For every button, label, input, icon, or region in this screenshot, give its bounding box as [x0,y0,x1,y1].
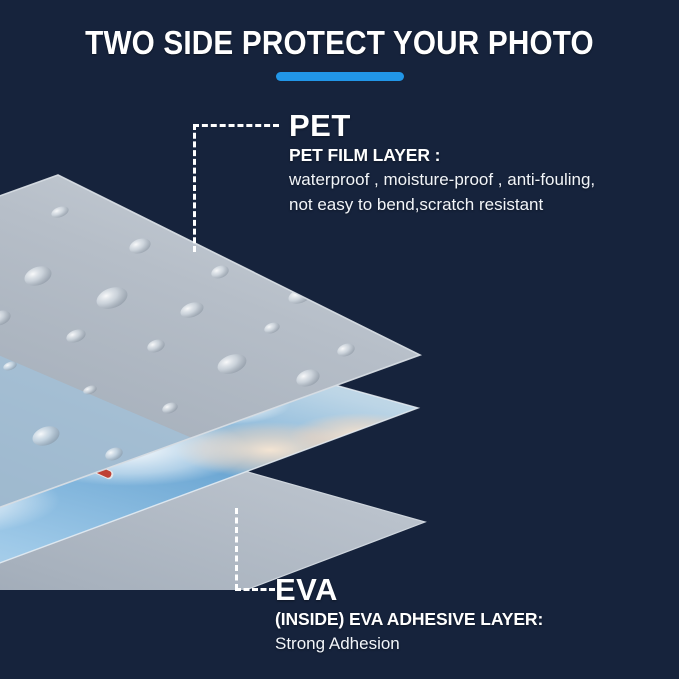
product-infographic: TWO SIDE PROTECT YOUR PHOTO [0,0,679,679]
callout-pet: PET PET FILM LAYER : waterproof , moistu… [289,110,619,217]
callout-eva: EVA (INSIDE) EVA ADHESIVE LAYER: Strong … [275,574,543,657]
eva-leader-line-horizontal [235,588,275,591]
callout-eva-code: EVA [275,574,543,606]
pet-leader-line-vertical [193,124,196,252]
title-underline-rule [276,72,404,81]
page-title: TWO SIDE PROTECT YOUR PHOTO [34,24,645,62]
pet-leader-line-horizontal [193,124,279,127]
callout-eva-body: Strong Adhesion [275,632,543,656]
eva-leader-line-vertical [235,508,238,590]
callout-pet-code: PET [289,110,619,142]
callout-eva-heading: (INSIDE) EVA ADHESIVE LAYER: [275,609,543,631]
callout-pet-body: waterproof , moisture-proof , anti-fouli… [289,168,619,216]
callout-pet-heading: PET FILM LAYER : [289,145,619,167]
